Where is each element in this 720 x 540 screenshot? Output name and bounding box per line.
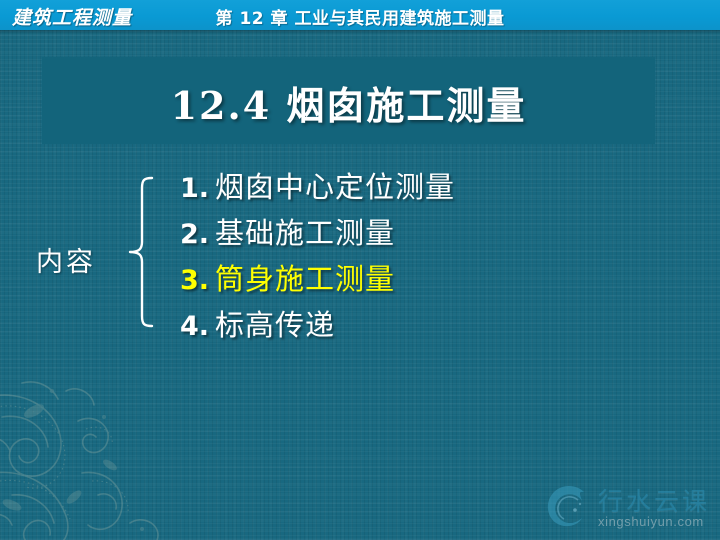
content-label: 内容 bbox=[36, 240, 96, 279]
section-title: 12.4 烟囱施工测量 bbox=[42, 75, 655, 130]
list-item-number: 1. bbox=[180, 173, 209, 204]
list-item[interactable]: 1.烟囱中心定位测量 bbox=[180, 166, 640, 212]
list-item[interactable]: 2.基础施工测量 bbox=[180, 212, 640, 258]
list-item-label: 筒身施工测量 bbox=[215, 262, 395, 296]
floral-ornament-icon bbox=[0, 377, 212, 540]
list-item-number: 2. bbox=[180, 219, 209, 250]
list-item[interactable]: 3.筒身施工测量 bbox=[180, 258, 640, 304]
list-item-number: 4. bbox=[180, 311, 209, 342]
list-item[interactable]: 4.标高传递 bbox=[180, 304, 640, 350]
list-item-label: 烟囱中心定位测量 bbox=[215, 170, 455, 204]
list-item-label: 基础施工测量 bbox=[215, 216, 395, 250]
curly-brace-icon bbox=[128, 176, 154, 328]
watermark-brand-en: xingshuiyun.com bbox=[598, 514, 704, 529]
slide-canvas: 建筑工程测量 第 12 章 工业与其民用建筑施工测量 12.4 烟囱施工测量 内… bbox=[0, 0, 720, 540]
section-title-box: 12.4 烟囱施工测量 bbox=[42, 57, 655, 144]
watermark: 行水云课 xingshuiyun.com bbox=[540, 478, 712, 536]
wave-logo-icon bbox=[540, 480, 592, 532]
chapter-title: 第 12 章 工业与其民用建筑施工测量 bbox=[0, 4, 720, 29]
list-item-number: 3. bbox=[180, 265, 209, 296]
header-bar-shadow bbox=[0, 30, 720, 34]
content-item-list: 1.烟囱中心定位测量2.基础施工测量3.筒身施工测量4.标高传递 bbox=[180, 166, 640, 350]
watermark-brand-cn: 行水云课 bbox=[598, 482, 710, 518]
list-item-label: 标高传递 bbox=[215, 308, 335, 342]
